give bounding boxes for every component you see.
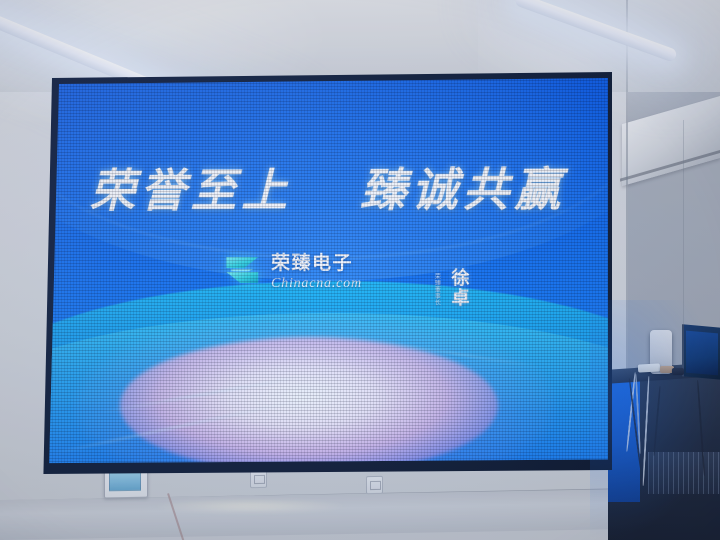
power-outlet-2[interactable]: [366, 476, 383, 494]
screen-panel: 荣誉至上 臻诚共赢: [40, 72, 612, 474]
cart-lower-shelf: [648, 452, 720, 494]
company-logo: 荣臻电子 Chinacna.com: [222, 252, 362, 292]
headline-left: 荣誉至上: [90, 163, 292, 217]
company-website: Chinacna.com: [271, 276, 362, 290]
floor-reflection: [150, 498, 350, 514]
headline-right: 臻诚共赢: [360, 162, 566, 217]
signature-title: 荣臻董事长: [432, 273, 441, 306]
company-name-cn: 荣臻电子: [271, 253, 362, 272]
power-adapter-1: [638, 363, 660, 372]
photo-scene: 荣誉至上 臻诚共赢: [0, 0, 720, 540]
led-video-wall[interactable]: 荣誉至上 臻诚共赢: [40, 72, 612, 474]
signature-block: 荣臻董事长 徐卓: [432, 268, 471, 308]
chinacna-chevron-logo-icon: [222, 252, 262, 292]
signature-name: 徐卓: [445, 268, 471, 308]
logo-text-block: 荣臻电子 Chinacna.com: [271, 253, 362, 290]
laptop-screen: [686, 331, 718, 376]
slide-headline: 荣誉至上 臻诚共赢: [43, 153, 612, 221]
power-adapter-3: [672, 368, 684, 375]
slide-content: 荣誉至上 臻诚共赢: [43, 72, 612, 474]
